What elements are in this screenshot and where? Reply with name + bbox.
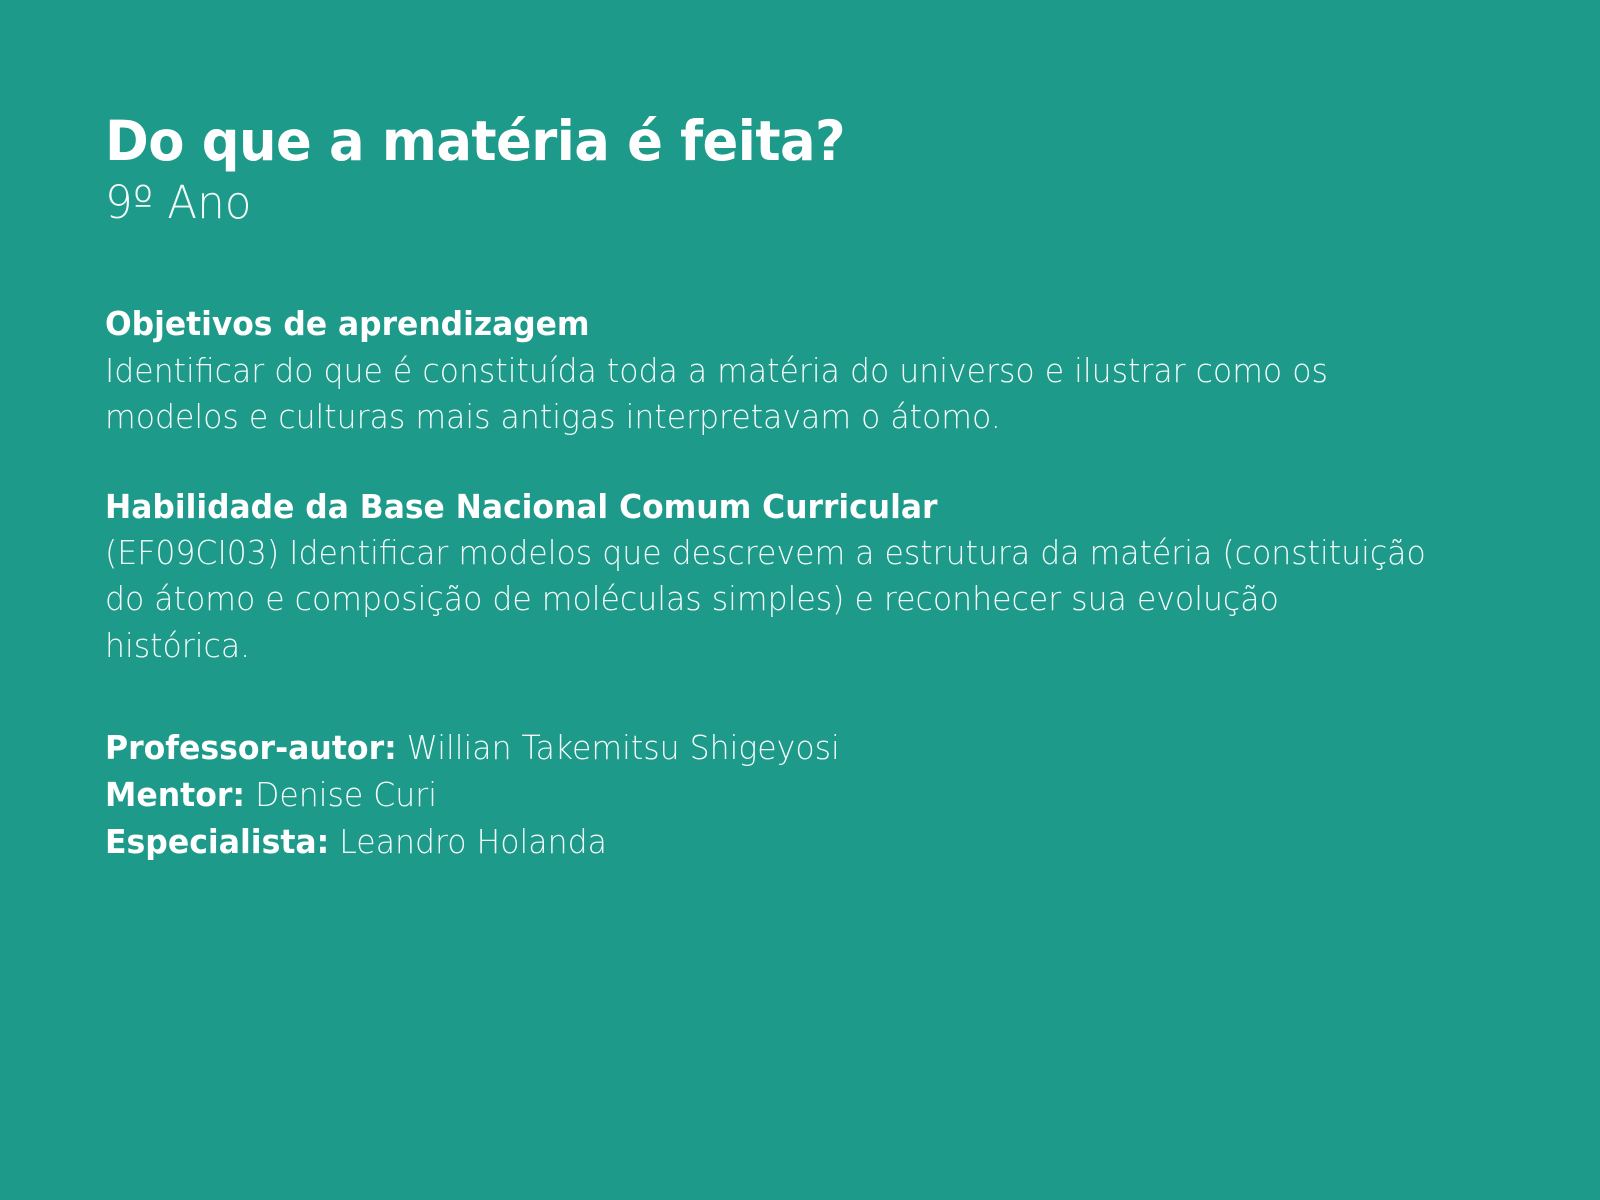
page-subtitle: 9º Ano (105, 176, 1453, 229)
credit-row-professor-autor: Professor-autor: Willian Takemitsu Shige… (105, 725, 1432, 772)
credit-name-professor-autor: Willian Takemitsu Shigeyosi (407, 728, 840, 767)
section-habilidade-bncc: Habilidade da Base Nacional Comum Curric… (105, 486, 1495, 669)
content-sections: Objetivos de aprendizagem Identificar do… (105, 303, 1495, 865)
credit-name-mentor: Denise Curi (255, 775, 437, 814)
credits-block: Professor-autor: Willian Takemitsu Shige… (105, 725, 1495, 866)
section-heading-habilidade-bncc: Habilidade da Base Nacional Comum Curric… (105, 486, 1426, 528)
credit-role-especialista: Especialista: (105, 822, 329, 861)
section-body-objetivos: Identificar do que é constituída toda a … (105, 348, 1432, 440)
credit-role-professor-autor: Professor-autor: (105, 728, 397, 767)
title-block: Do que a matéria é feita? 9º Ano (105, 0, 1495, 229)
slide-root: Do que a matéria é feita? 9º Ano Objetiv… (0, 0, 1600, 1200)
section-objetivos: Objetivos de aprendizagem Identificar do… (105, 303, 1495, 440)
section-heading-objetivos: Objetivos de aprendizagem (105, 303, 1426, 345)
credit-row-mentor: Mentor: Denise Curi (105, 772, 1432, 819)
credit-role-mentor: Mentor: (105, 775, 245, 814)
credit-row-especialista: Especialista: Leandro Holanda (105, 819, 1432, 866)
credit-name-especialista: Leandro Holanda (339, 822, 607, 861)
page-title: Do que a matéria é feita? (105, 112, 1439, 170)
section-body-habilidade-bncc: (EF09CI03) Identificar modelos que descr… (105, 530, 1432, 669)
